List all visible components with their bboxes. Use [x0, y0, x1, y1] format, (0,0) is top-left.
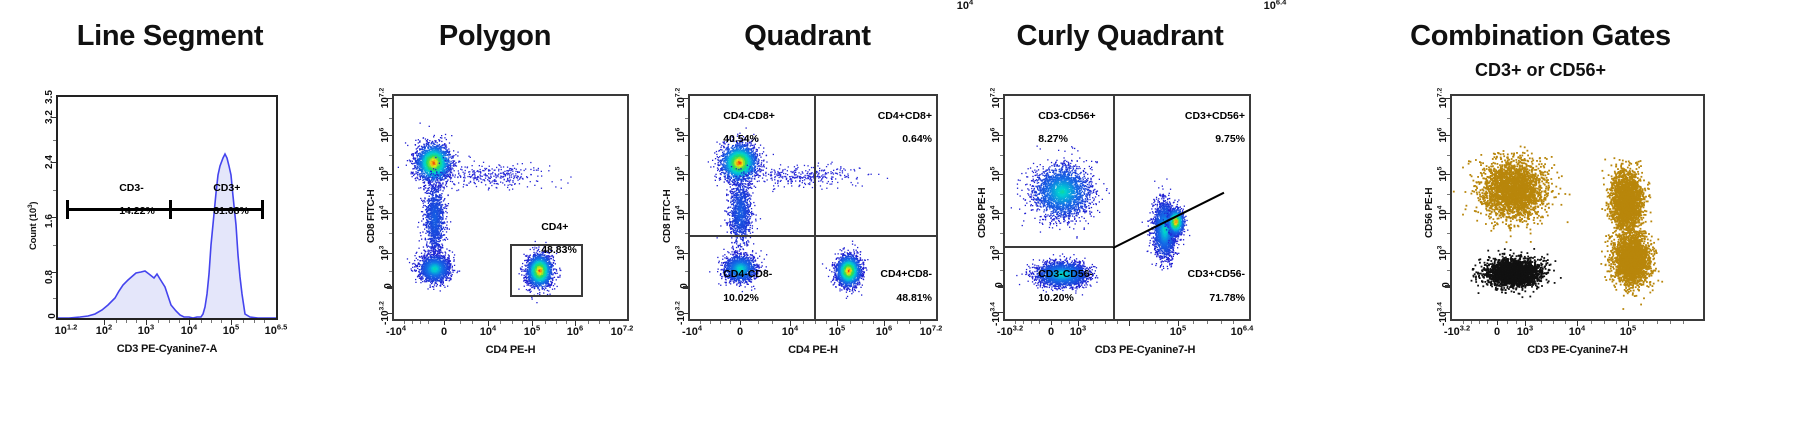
xtick-mark-minor	[1031, 321, 1032, 324]
ytick-label: -103.4	[1438, 302, 1449, 326]
xtick-label: 103	[138, 325, 154, 337]
panel-subtitle-combination-gates: CD3+ or CD56+	[1275, 60, 1806, 81]
ytick-mark-minor	[685, 194, 688, 195]
ytick-mark-minor	[1447, 155, 1450, 156]
xtick-label: 104	[957, 0, 973, 12]
ytick-mark	[998, 213, 1003, 214]
xaxis-title-combination-gates: CD3 PE-Cyanine7-H	[1450, 344, 1705, 356]
xtick-label: 103	[1517, 326, 1533, 338]
xtick-label: 105	[524, 326, 540, 338]
xtick-mark-minor	[1591, 321, 1592, 324]
xtick-label: -104	[386, 326, 406, 338]
quadrant-vertical-divider[interactable]	[814, 96, 816, 319]
xtick-mark-minor	[1143, 321, 1144, 324]
xtick-label: -103.2	[1444, 326, 1470, 338]
xtick-mark-minor	[545, 321, 546, 324]
xtick-mark-minor	[700, 321, 701, 324]
xtick-mark-minor	[815, 321, 816, 324]
quadrant-label-upper-right: CD3+CD56+ 9.75%	[1156, 99, 1245, 158]
gate-tick-right[interactable]	[261, 200, 264, 219]
ytick-mark-minor	[389, 271, 392, 272]
ytick-mark	[998, 135, 1003, 136]
panel-title-line-segment: Line Segment	[0, 20, 340, 53]
ytick-mark-minor	[685, 118, 688, 119]
xtick-mark-minor	[221, 320, 222, 323]
ytick-mark	[998, 285, 1003, 288]
ytick-mark-minor	[389, 118, 392, 119]
xtick-mark-minor	[1039, 321, 1040, 324]
xtick-mark-minor	[264, 320, 265, 323]
ytick-mark-minor	[1000, 270, 1003, 271]
xtick-mark-minor	[826, 321, 827, 324]
gate-tick-middle[interactable]	[169, 200, 172, 219]
gate-name: CD4-CD8-	[723, 268, 772, 280]
xtick-mark-minor	[169, 320, 170, 323]
xtick-mark-minor	[609, 321, 610, 324]
ytick-mark	[51, 217, 56, 218]
ytick-mark	[387, 98, 392, 99]
xtick-mark	[1497, 321, 1498, 325]
gate-name: CD3-	[119, 182, 144, 194]
plot-polygon: CD4+ 48.83%	[392, 94, 629, 321]
gate-percent: 81.68%	[213, 205, 249, 217]
xtick-mark	[837, 321, 838, 326]
xtick-label: 102	[96, 325, 112, 337]
ytick-mark	[387, 286, 392, 289]
xtick-mark	[1525, 321, 1526, 326]
xtick-mark-minor	[920, 321, 921, 324]
ytick-mark-minor	[389, 155, 392, 156]
plot-combination-gates	[1450, 94, 1705, 321]
xtick-mark	[1577, 321, 1578, 326]
ytick-mark-minor	[53, 298, 56, 299]
xtick-mark-minor	[500, 321, 501, 324]
gate-percent: 71.78%	[1209, 292, 1245, 304]
xtick-mark-minor	[897, 321, 898, 324]
xtick-label: -104	[682, 326, 702, 338]
xtick-mark-minor	[254, 320, 255, 323]
yaxis-title-text: Count (10	[28, 208, 39, 250]
xtick-mark-minor	[1207, 321, 1208, 324]
xtick-mark-minor	[1015, 321, 1016, 324]
gate-name: CD4-CD8+	[723, 110, 775, 122]
xtick-mark-minor	[599, 321, 600, 324]
ytick-mark-minor	[1000, 118, 1003, 119]
xtick-label: 101.2	[55, 325, 78, 337]
xtick-mark-minor	[566, 321, 567, 324]
xtick-mark-minor	[1105, 321, 1106, 324]
xtick-label: 106	[876, 326, 892, 338]
xtick-mark-minor	[873, 321, 874, 324]
xtick-mark-minor	[1670, 321, 1671, 324]
ytick-mark	[683, 174, 688, 175]
xtick-mark-minor	[710, 321, 711, 324]
ytick-mark	[998, 312, 1003, 313]
yaxis-title-combination-gates: CD56 PE-H	[1424, 188, 1435, 238]
quadrant-horizontal-divider[interactable]	[690, 235, 936, 237]
ytick-label: 3.5	[44, 90, 55, 104]
flow-cytometry-figure: Line Segment CD3- 14.22% CD3+ 81.	[0, 0, 1806, 447]
gate-percent: 40.54%	[723, 133, 759, 145]
xtick-mark-minor	[404, 321, 405, 324]
gate-percent: 10.02%	[723, 292, 759, 304]
yaxis-title-quadrant: CD8 FITC-H	[662, 189, 673, 243]
yaxis-title-line-segment: Count (103)	[28, 202, 39, 250]
xtick-mark-minor	[1167, 321, 1168, 324]
xtick-mark-minor	[720, 321, 721, 324]
xtick-mark-minor	[179, 320, 180, 323]
ytick-mark-minor	[1000, 233, 1003, 234]
xtick-mark-minor	[243, 320, 244, 323]
plot-quadrant: CD4-CD8+ 40.54% CD4+CD8+ 0.64% CD4-CD8- …	[688, 94, 938, 321]
xtick-label: 0	[1494, 326, 1500, 338]
xtick-label: 105	[1170, 326, 1186, 338]
yaxis-title-curly-quadrant: CD56 PE-H	[977, 188, 988, 238]
gate-tick-left[interactable]	[66, 200, 69, 219]
xtick-mark-minor	[1093, 321, 1094, 324]
xtick-mark-minor	[1155, 321, 1156, 324]
plot-curly-quadrant: CD3-CD56+ 8.27% CD3+CD56+ 9.75% CD3-CD56…	[1003, 94, 1251, 321]
ytick-mark-minor	[389, 233, 392, 234]
xtick-mark	[189, 320, 190, 325]
panel-combination-gates: Combination Gates CD3+ or CD56+ 107.2 10…	[1275, 0, 1806, 447]
xtick-mark	[104, 320, 105, 325]
ytick-mark-minor	[1000, 194, 1003, 195]
ytick-mark	[51, 162, 56, 163]
xaxis-title-curly-quadrant: CD3 PE-Cyanine7-H	[1021, 344, 1269, 356]
xtick-mark-minor	[1061, 321, 1062, 324]
ytick-mark	[387, 213, 392, 214]
xtick-mark	[790, 321, 791, 326]
xtick-mark	[1129, 321, 1130, 326]
ytick-mark	[1445, 98, 1450, 99]
ytick-mark	[387, 174, 392, 175]
xtick-mark-minor	[1069, 321, 1070, 324]
ytick-mark	[1445, 253, 1450, 254]
xtick-mark-minor	[126, 320, 127, 323]
xtick-label: 107.2	[611, 326, 634, 338]
panel-line-segment: Line Segment CD3- 14.22% CD3+ 81.	[0, 0, 340, 447]
xtick-mark-minor	[1616, 321, 1617, 324]
ytick-mark-minor	[389, 194, 392, 195]
xtick-mark-minor	[428, 321, 429, 324]
ytick-mark	[683, 98, 688, 99]
xtick-mark-minor	[211, 320, 212, 323]
ytick-mark-minor	[685, 233, 688, 234]
xtick-mark	[1051, 321, 1052, 325]
ytick-mark	[683, 213, 688, 214]
xtick-mark-minor	[1463, 321, 1464, 324]
ytick-mark	[51, 272, 56, 273]
ytick-mark	[998, 253, 1003, 254]
ytick-label: 0	[47, 313, 58, 319]
xaxis-title-line-segment: CD3 PE-Cyanine7-A	[56, 343, 278, 355]
gate-percent: 8.27%	[1038, 133, 1068, 145]
ytick-mark	[1445, 285, 1450, 288]
quadrant-label-lower-left: CD3-CD56- 10.20%	[1009, 257, 1093, 316]
gate-name: CD4+CD8+	[878, 110, 932, 122]
xtick-mark-minor	[862, 321, 863, 324]
xtick-label: 104	[782, 326, 798, 338]
xtick-mark-minor	[460, 321, 461, 324]
quadrant-label-lower-left: CD4-CD8- 10.02%	[694, 257, 772, 316]
yaxis-title-polygon: CD8 FITC-H	[366, 189, 377, 243]
xtick-label: 105	[223, 325, 239, 337]
xtick-label: 0	[441, 326, 447, 338]
xtick-mark-minor	[412, 321, 413, 324]
xtick-mark-minor	[730, 321, 731, 324]
xtick-mark-minor	[1233, 321, 1234, 324]
xaxis-title-polygon: CD4 PE-H	[392, 344, 629, 356]
xtick-mark-minor	[1565, 321, 1566, 324]
gate-percent: 14.22%	[119, 205, 155, 217]
xtick-mark-minor	[1604, 321, 1605, 324]
panel-title-quadrant: Quadrant	[650, 20, 965, 53]
ytick-mark	[683, 286, 688, 289]
xtick-mark	[146, 320, 147, 325]
xtick-mark	[231, 320, 232, 325]
xtick-mark-minor	[1117, 321, 1118, 324]
ytick-mark	[683, 313, 688, 314]
panel-title-combination-gates: Combination Gates	[1275, 20, 1806, 53]
gate-name: CD4+	[541, 221, 568, 233]
xtick-label: 104	[480, 326, 496, 338]
xtick-label: 106.5	[265, 325, 288, 337]
xtick-mark	[575, 321, 576, 326]
ytick-mark	[1445, 312, 1450, 313]
yaxis-exponent: 3	[27, 205, 34, 208]
xtick-mark-minor	[1643, 321, 1644, 324]
gate-percent: 10.20%	[1038, 292, 1074, 304]
xtick-mark-minor	[420, 321, 421, 324]
ytick-mark-minor	[1447, 194, 1450, 195]
xtick-label: 0	[1048, 326, 1054, 338]
ytick-mark	[998, 98, 1003, 99]
xtick-mark-minor	[136, 320, 137, 323]
ytick-mark	[387, 135, 392, 136]
plot-line-segment: CD3- 14.22% CD3+ 81.68%	[56, 95, 278, 320]
xtick-mark-minor	[158, 320, 159, 323]
ytick-mark-minor	[1000, 155, 1003, 156]
xtick-mark-minor	[850, 321, 851, 324]
xtick-label: 104	[1569, 326, 1585, 338]
ytick-mark-minor	[53, 245, 56, 246]
xtick-mark	[532, 321, 533, 326]
gate-name: CD4+CD8-	[880, 268, 932, 280]
xtick-label: -103.2	[997, 326, 1023, 338]
gate-percent: 0.64%	[902, 133, 932, 145]
xtick-label: 0	[737, 326, 743, 338]
panel-polygon: Polygon CD4+ 48.83% 107.2 106 105 104 10…	[340, 0, 650, 447]
xtick-mark-minor	[201, 320, 202, 323]
xtick-mark-minor	[758, 321, 759, 324]
panel-quadrant: Quadrant CD4-CD8+ 40.54% CD4+CD8+ 0.64% …	[650, 0, 965, 447]
xtick-label: 106.4	[1264, 0, 1287, 12]
xtick-label: 104	[181, 325, 197, 337]
xtick-mark-minor	[1023, 321, 1024, 324]
xtick-mark	[1178, 321, 1179, 326]
xtick-label: 103	[1070, 326, 1086, 338]
xtick-label: 106	[567, 326, 583, 338]
xtick-mark-minor	[1193, 321, 1194, 324]
gate-percent: 9.75%	[1215, 133, 1245, 145]
panel-title-polygon: Polygon	[340, 20, 650, 53]
ytick-mark	[998, 174, 1003, 175]
gate-label-cd4-pos: CD4+ 48.83%	[512, 210, 577, 269]
gate-name: CD3+CD56+	[1185, 110, 1245, 122]
ytick-mark	[1445, 135, 1450, 136]
xtick-mark-minor	[588, 321, 589, 324]
curly-quadrant-vertical-divider[interactable]	[1113, 96, 1115, 319]
gate-percent: 48.83%	[541, 244, 577, 256]
ytick-mark	[1445, 174, 1450, 175]
xtick-mark-minor	[116, 320, 117, 323]
gate-label-cd3-neg: CD3- 14.22%	[90, 171, 155, 230]
xtick-mark-minor	[1683, 321, 1684, 324]
ytick-mark	[387, 253, 392, 254]
xtick-mark-minor	[556, 321, 557, 324]
xtick-mark-minor	[1553, 321, 1554, 324]
ytick-mark	[1445, 213, 1450, 214]
xtick-mark	[884, 321, 885, 326]
xtick-mark-minor	[1541, 321, 1542, 324]
xtick-mark-minor	[512, 321, 513, 324]
ytick-mark-minor	[685, 155, 688, 156]
xtick-mark	[488, 321, 489, 326]
xtick-mark-minor	[1487, 321, 1488, 324]
panel-title-curly-quadrant: Curly Quadrant	[965, 20, 1275, 53]
ytick-mark-minor	[685, 271, 688, 272]
gate-name: CD3-CD56+	[1038, 110, 1095, 122]
quadrant-label-lower-right: CD4+CD8- 48.81%	[851, 257, 932, 316]
xtick-mark-minor	[803, 321, 804, 324]
xtick-mark	[444, 321, 445, 325]
gate-label-cd3-pos: CD3+ 81.68%	[184, 171, 249, 230]
xtick-mark-minor	[909, 321, 910, 324]
ytick-mark	[51, 117, 56, 118]
curly-quadrant-horizontal-divider[interactable]	[1005, 246, 1115, 248]
xtick-label: 106.4	[1231, 326, 1254, 338]
xtick-mark-minor	[772, 321, 773, 324]
xtick-mark	[1628, 321, 1629, 326]
xtick-label: 107.2	[920, 326, 943, 338]
gate-name: CD3+CD56-	[1188, 268, 1245, 280]
quadrant-label-upper-left: CD3-CD56+ 8.27%	[1009, 99, 1096, 158]
ytick-mark	[387, 313, 392, 314]
gate-percent: 48.81%	[896, 292, 932, 304]
xtick-mark-minor	[1471, 321, 1472, 324]
xtick-mark	[740, 321, 741, 325]
xtick-mark-minor	[1479, 321, 1480, 324]
ytick-mark-minor	[53, 190, 56, 191]
xtick-mark	[1078, 321, 1079, 326]
xtick-mark-minor	[1657, 321, 1658, 324]
xtick-mark-minor	[1507, 321, 1508, 324]
gate-name: CD3-CD56-	[1038, 268, 1093, 280]
quadrant-label-upper-right: CD4+CD8+ 0.64%	[849, 99, 932, 158]
quadrant-label-lower-right: CD3+CD56- 71.78%	[1158, 257, 1245, 316]
ytick-mark	[683, 253, 688, 254]
ytick-mark-minor	[1447, 233, 1450, 234]
gate-name: CD3+	[213, 182, 240, 194]
xtick-mark-minor	[522, 321, 523, 324]
scatter-combination-gates	[1452, 96, 1703, 319]
ytick-mark	[683, 135, 688, 136]
ytick-mark-minor	[1447, 118, 1450, 119]
xtick-mark-minor	[1221, 321, 1222, 324]
xtick-label: 105	[829, 326, 845, 338]
ytick-mark-minor	[53, 140, 56, 141]
xaxis-title-quadrant: CD4 PE-H	[688, 344, 938, 356]
xtick-mark-minor	[1516, 321, 1517, 324]
ytick-mark-minor	[1447, 270, 1450, 271]
quadrant-label-upper-left: CD4-CD8+ 40.54%	[694, 99, 775, 158]
ytick-label: -103.4	[991, 302, 1002, 326]
xtick-label: 105	[1620, 326, 1636, 338]
xtick-mark-minor	[472, 321, 473, 324]
panel-curly-quadrant: Curly Quadrant CD3-CD56+ 8.27% CD3+CD56+…	[965, 0, 1275, 447]
